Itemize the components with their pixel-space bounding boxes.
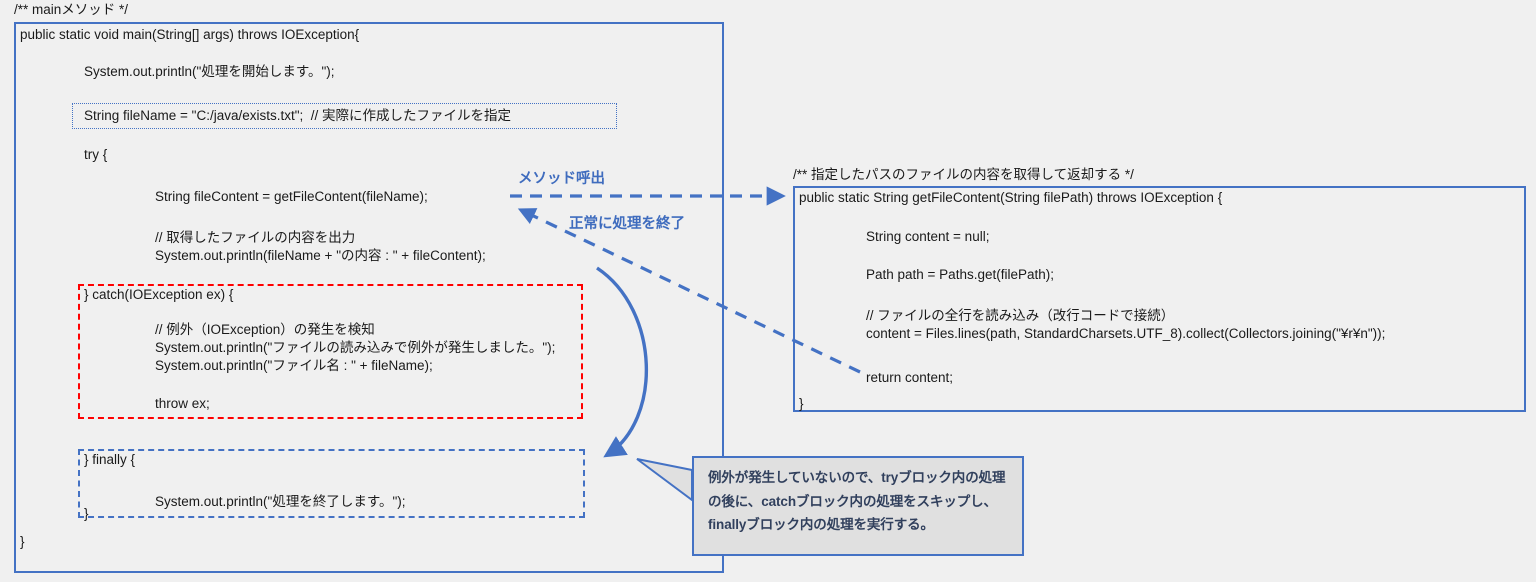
method-call-label: メソッド呼出 xyxy=(518,171,605,188)
callout-pointer-icon xyxy=(637,459,692,500)
curved-arrow-icon xyxy=(597,268,646,455)
normal-end-label: 正常に処理を終了 xyxy=(569,216,685,233)
dashed-arrow-left-icon xyxy=(521,210,860,372)
explanation-callout: 例外が発生していないので、tryブロック内の処理の後に、catchブロック内の処… xyxy=(692,456,1024,556)
explanation-callout-text: 例外が発生していないので、tryブロック内の処理の後に、catchブロック内の処… xyxy=(708,466,1010,537)
diagram-canvas: /** mainメソッド */ public static void main(… xyxy=(0,0,1536,582)
